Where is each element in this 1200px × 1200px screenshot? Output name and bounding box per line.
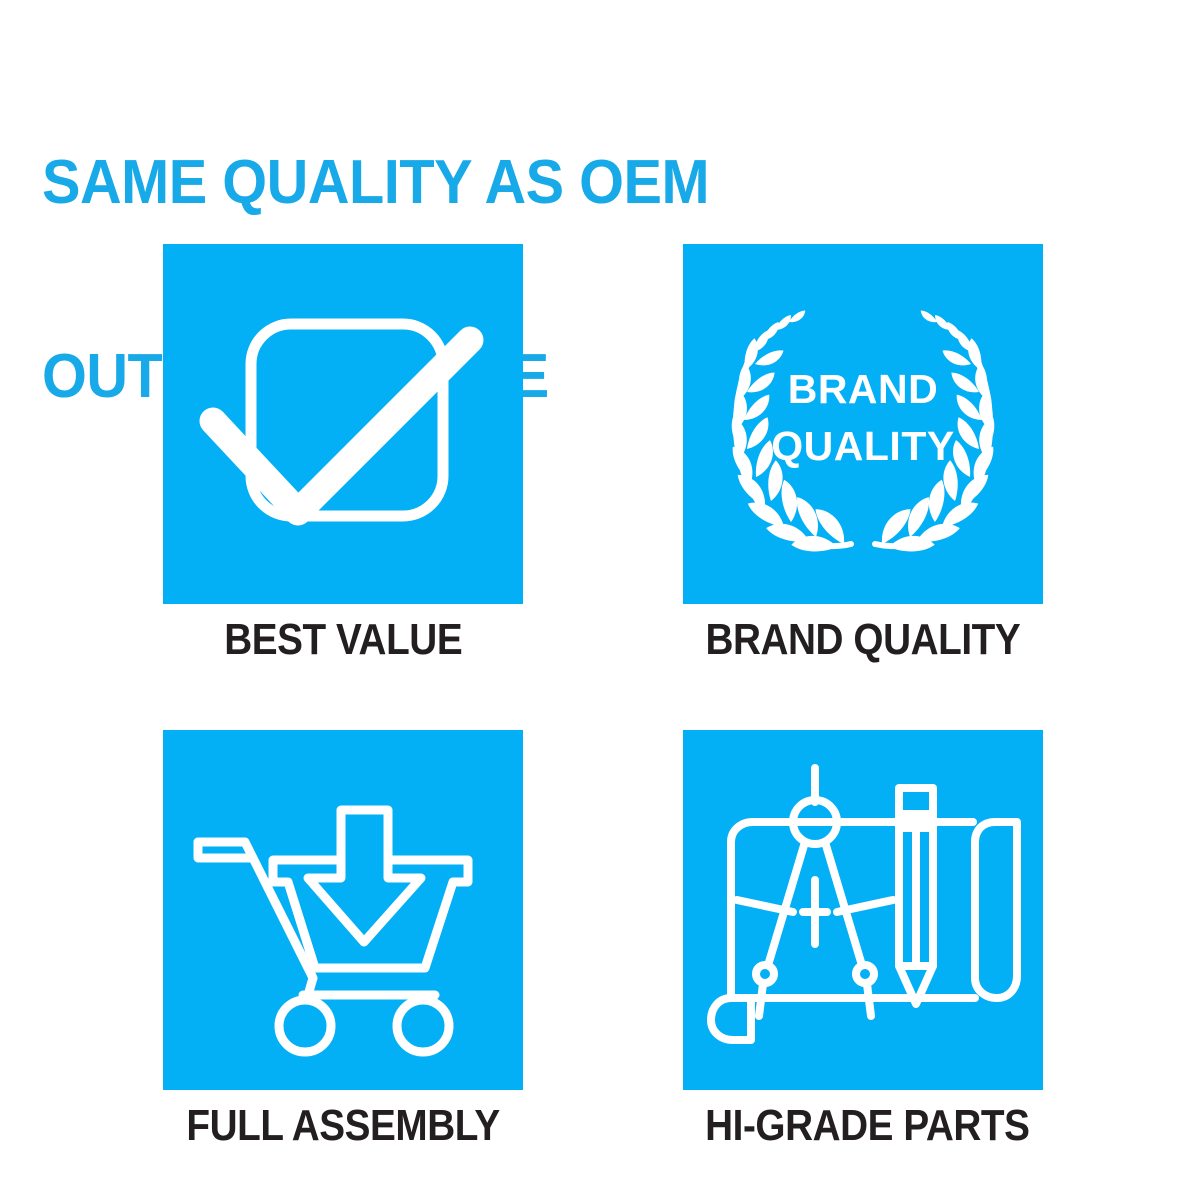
blueprint-compass-pencil-icon: [683, 730, 1043, 1090]
feature-icon-tile: [163, 244, 523, 604]
shopping-cart-with-down-arrow-icon: [163, 730, 523, 1090]
feature-label: BRAND QUALITY: [683, 618, 1043, 662]
feature-card-full-assembly[interactable]: FULL ASSEMBLY: [163, 730, 523, 1148]
laurel-wreath-icon: [683, 244, 1043, 604]
feature-card-best-value[interactable]: BEST VALUE: [163, 244, 523, 662]
feature-label: BEST VALUE: [163, 618, 523, 662]
checkmark-in-rounded-square-icon: [163, 244, 523, 604]
promo-feature-graphic: SAME QUALITY AS OEM OUTSIDE + INSIDE BES…: [0, 0, 1200, 1200]
feature-grid: BEST VALUE: [0, 0, 1200, 1200]
feature-label: HI-GRADE PARTS: [683, 1104, 1043, 1148]
feature-icon-tile: [683, 730, 1043, 1090]
feature-icon-tile: [163, 730, 523, 1090]
feature-icon-tile: BRAND QUALITY: [683, 244, 1043, 604]
feature-card-hi-grade-parts[interactable]: HI-GRADE PARTS: [683, 730, 1043, 1148]
feature-card-brand-quality[interactable]: BRAND QUALITY BRAND QUALITY: [683, 244, 1043, 662]
feature-label: FULL ASSEMBLY: [163, 1104, 523, 1148]
